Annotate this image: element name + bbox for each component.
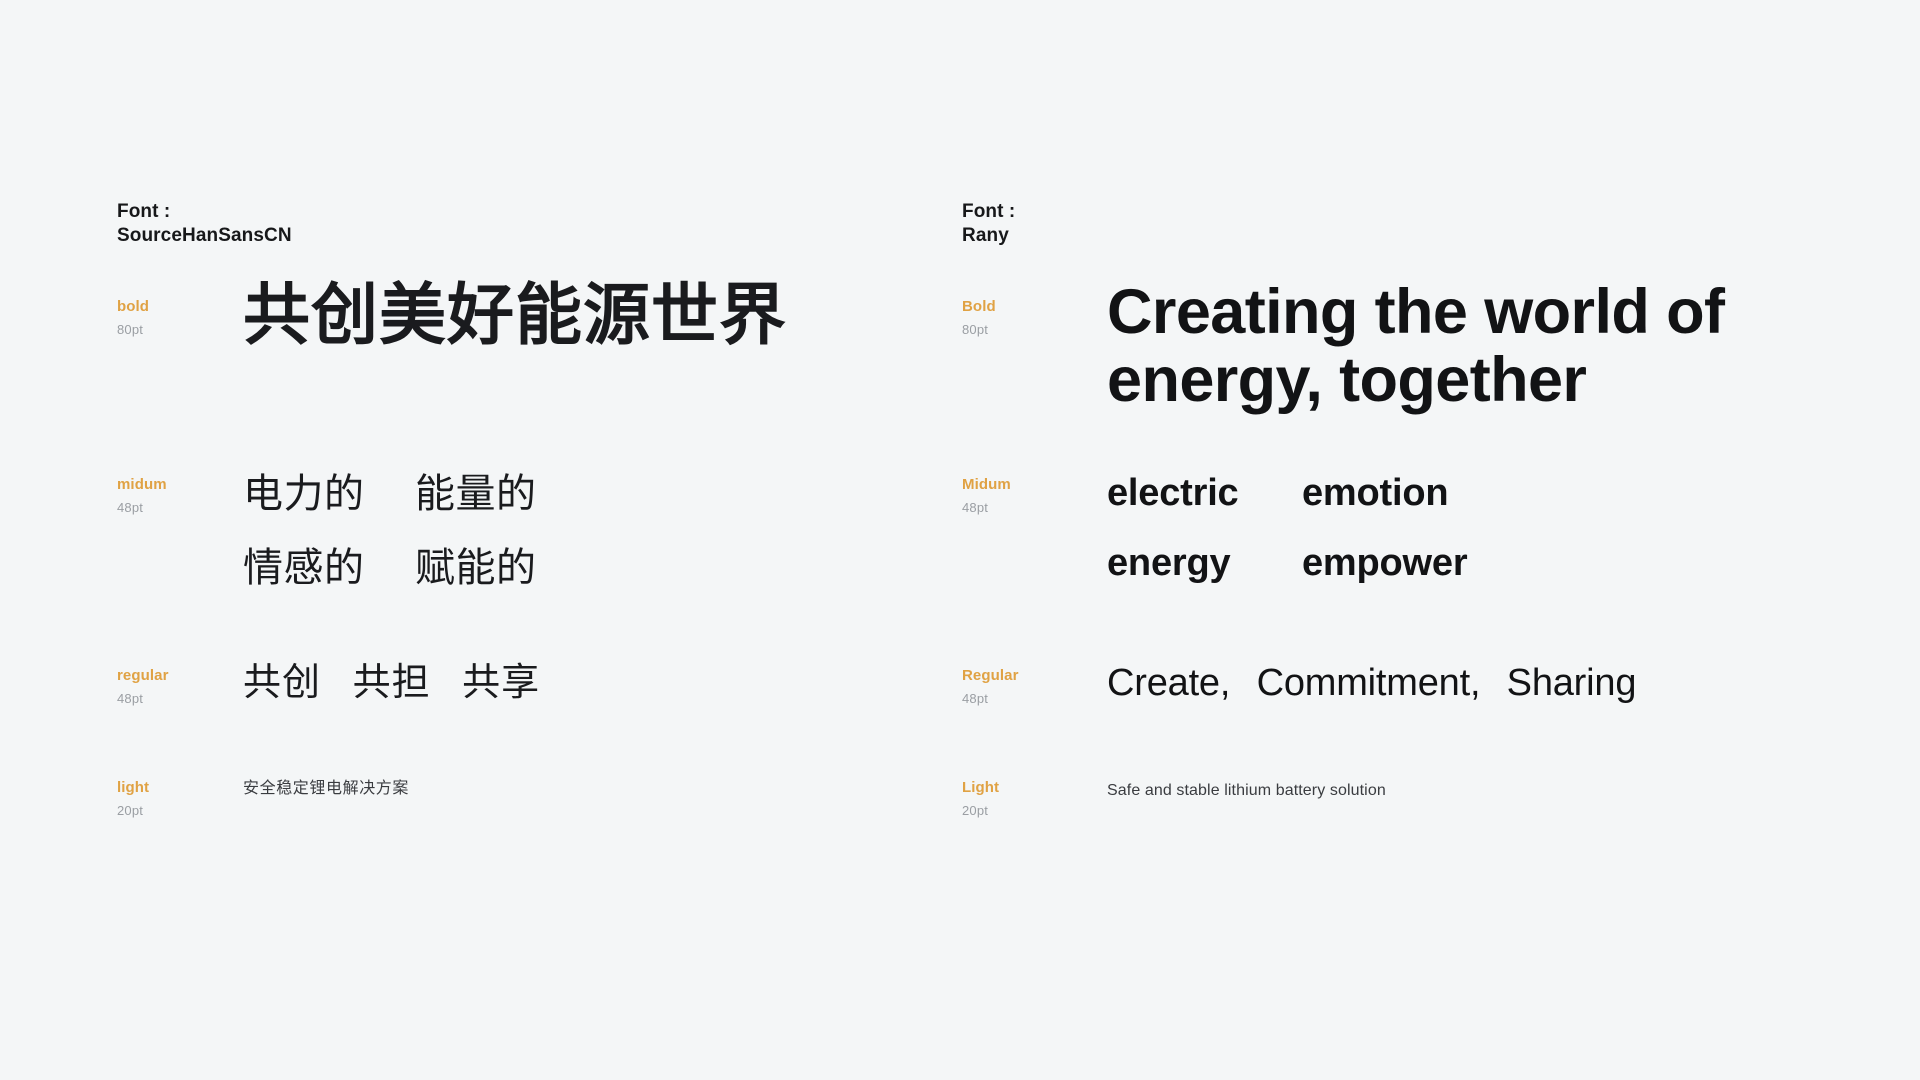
sample-word: 共享 [462, 662, 540, 704]
weight-name: regular [117, 667, 247, 685]
sample-word: energy [1107, 544, 1302, 582]
sample-line: 电力的 能量的 [243, 474, 537, 514]
sample-word: electric [1107, 474, 1302, 512]
sample-word: Sharing [1507, 662, 1637, 704]
font-family-name: Rany [962, 224, 1015, 248]
sample-line: 共创美好能源世界 [243, 278, 787, 353]
sample-line: Create, Commitment, Sharing [1107, 664, 1636, 702]
sample-word: Create, [1107, 662, 1230, 704]
sample-text-block: electric emotion energy empower [1107, 474, 1467, 582]
sample-text-block: Create, Commitment, Sharing [1107, 664, 1636, 702]
sample-line: energy empower [1107, 544, 1467, 582]
weight-label-block: Bold 80pt [962, 298, 1092, 338]
weight-label-block: bold 80pt [117, 298, 247, 338]
sample-word: Commitment, [1257, 662, 1481, 704]
sample-word: 能量的 [415, 474, 537, 514]
font-family-name: SourceHanSansCN [117, 224, 292, 248]
sample-word: empower [1302, 544, 1467, 582]
font-name-heading-english: Font : Rany [962, 200, 1015, 249]
sample-paragraph: Creating the world of energy, together [1107, 278, 1724, 414]
weight-label-block: Light 20pt [962, 779, 1092, 819]
sample-text-block: 共创美好能源世界 [243, 278, 787, 353]
weight-label-block: Midum 48pt [962, 476, 1092, 516]
point-size: 80pt [962, 322, 1092, 338]
weight-name: light [117, 779, 247, 797]
sample-text-block: 安全稳定锂电解决方案 [243, 779, 409, 798]
weight-name: Regular [962, 667, 1092, 685]
weight-label-block: midum 48pt [117, 476, 247, 516]
sample-text-block: Safe and stable lithium battery solution [1107, 781, 1386, 800]
weight-name: Midum [962, 476, 1092, 494]
weight-name: Bold [962, 298, 1092, 316]
sample-line: Safe and stable lithium battery solution [1107, 781, 1386, 800]
sample-line: 情感的 赋能的 [243, 548, 537, 588]
sample-line: electric emotion [1107, 474, 1467, 512]
weight-name: bold [117, 298, 247, 316]
point-size: 80pt [117, 322, 247, 338]
weight-name: midum [117, 476, 247, 494]
point-size: 48pt [117, 500, 247, 516]
sample-line: Creating the world of [1107, 278, 1724, 346]
point-size: 48pt [117, 691, 247, 707]
sample-line: 安全稳定锂电解决方案 [243, 779, 409, 798]
point-size: 20pt [962, 803, 1092, 819]
sample-word: 共担 [353, 662, 431, 704]
typography-specimen-sheet: Font : SourceHanSansCN bold 80pt 共创美好能源世… [0, 0, 1920, 1080]
sample-word: emotion [1302, 474, 1448, 512]
weight-label-block: regular 48pt [117, 667, 247, 707]
font-label-prefix: Font : [117, 200, 292, 224]
sample-text-block: Creating the world of energy, together [1107, 278, 1724, 414]
weight-label-block: Regular 48pt [962, 667, 1092, 707]
sample-word: 电力的 [243, 474, 415, 514]
sample-line: energy, together [1107, 346, 1724, 414]
weight-name: Light [962, 779, 1092, 797]
point-size: 20pt [117, 803, 247, 819]
weight-label-block: light 20pt [117, 779, 247, 819]
sample-word: 情感的 [243, 548, 415, 588]
sample-line: 共创 共担 共享 [243, 664, 540, 702]
point-size: 48pt [962, 691, 1092, 707]
font-name-heading-chinese: Font : SourceHanSansCN [117, 200, 292, 249]
sample-text-block: 电力的 能量的 情感的 赋能的 [243, 474, 537, 588]
point-size: 48pt [962, 500, 1092, 516]
sample-word: 赋能的 [415, 548, 537, 588]
sample-text-block: 共创 共担 共享 [243, 664, 540, 702]
font-label-prefix: Font : [962, 200, 1015, 224]
sample-word: 共创 [243, 662, 321, 704]
